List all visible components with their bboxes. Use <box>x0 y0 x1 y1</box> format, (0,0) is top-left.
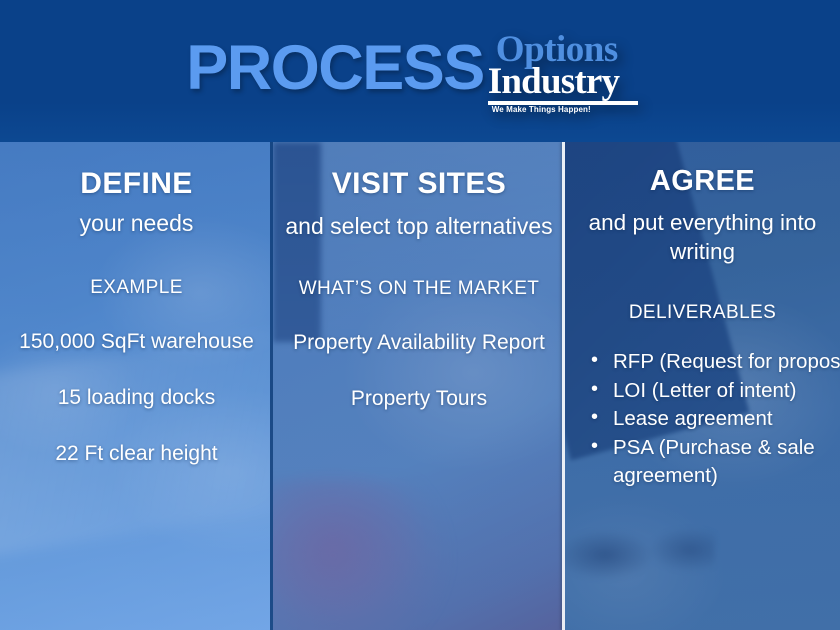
define-content: DEFINE your needs EXAMPLE 150,000 SqFt w… <box>0 142 273 630</box>
define-item-clear-height: 22 Ft clear height <box>10 441 263 467</box>
deliverable-loi: LOI (Letter of intent) <box>613 379 796 402</box>
agree-content: AGREE and put everything into writing DE… <box>565 142 840 630</box>
agree-subheading: and put everything into writing <box>575 209 830 267</box>
page-title: PROCESS <box>186 37 484 100</box>
process-step-visit-sites: VISIT SITES and select top alternatives … <box>273 142 565 630</box>
agree-section-label: DELIVERABLES <box>575 301 830 326</box>
process-infographic-slide: PROCESS Options Industry We Make Things … <box>0 0 840 630</box>
define-subheading: your needs <box>10 209 263 238</box>
agree-heading: AGREE <box>575 166 830 196</box>
options-industry-logo: Options Industry We Make Things Happen! <box>488 31 654 115</box>
list-item: Lease agreement <box>581 405 840 433</box>
visit-sites-subheading: and select top alternatives <box>283 212 555 241</box>
list-item: RFP (Request for proposal) <box>581 348 840 376</box>
process-step-agree: AGREE and put everything into writing DE… <box>565 142 840 630</box>
logo-industry-block: Industry <box>488 63 648 105</box>
visit-sites-item-availability-report: Property Availability Report <box>283 330 555 356</box>
visit-sites-heading: VISIT SITES <box>283 168 555 200</box>
define-section-label: EXAMPLE <box>10 276 263 301</box>
deliverable-rfp: RFP (Request for proposal) <box>613 348 840 376</box>
deliverable-psa: PSA (Purchase & sale agreement) <box>613 436 815 487</box>
define-item-loading-docks: 15 loading docks <box>10 385 263 411</box>
visit-sites-section-label: WHAT’S ON THE MARKET <box>283 277 555 302</box>
slide-header: PROCESS Options Industry We Make Things … <box>0 0 840 142</box>
deliverable-lease-agreement: Lease agreement <box>613 407 773 430</box>
list-item: PSA (Purchase & sale agreement) <box>581 434 840 490</box>
logo-tagline: We Make Things Happen! <box>492 105 591 114</box>
visit-sites-content: VISIT SITES and select top alternatives … <box>273 142 565 630</box>
list-item: LOI (Letter of intent) <box>581 377 840 405</box>
define-item-warehouse: 150,000 SqFt warehouse <box>10 329 263 355</box>
process-columns: DEFINE your needs EXAMPLE 150,000 SqFt w… <box>0 142 840 630</box>
process-step-define: DEFINE your needs EXAMPLE 150,000 SqFt w… <box>0 142 273 630</box>
agree-deliverables-list: RFP (Request for proposal) LOI (Letter o… <box>575 348 840 490</box>
logo-word-industry: Industry <box>488 63 648 100</box>
define-heading: DEFINE <box>10 168 263 200</box>
visit-sites-item-property-tours: Property Tours <box>283 386 555 412</box>
